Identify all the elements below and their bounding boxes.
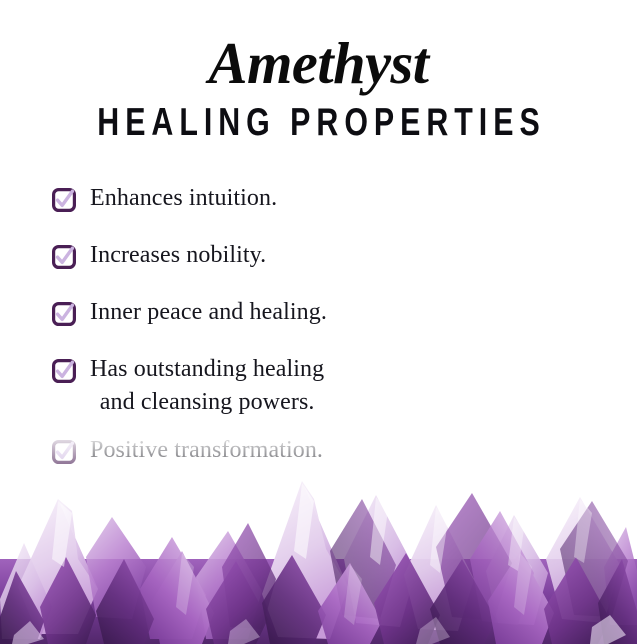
poster-header: Amethyst HEALING PROPERTIES: [0, 0, 637, 135]
amethyst-poster: Amethyst HEALING PROPERTIES Enhances int…: [0, 0, 637, 644]
list-item-label: Has outstanding healing and cleansing po…: [90, 353, 324, 419]
list-item[interactable]: Enhances intuition.: [52, 182, 637, 215]
list-item-label: Increases nobility.: [90, 239, 266, 272]
checkbox-checked-icon[interactable]: [52, 359, 76, 383]
list-item[interactable]: Increases nobility.: [52, 239, 637, 272]
checkbox-checked-icon[interactable]: [52, 188, 76, 212]
list-item[interactable]: Inner peace and healing.: [52, 296, 637, 329]
checkbox-checked-icon[interactable]: [52, 302, 76, 326]
list-item-label: Inner peace and healing.: [90, 296, 327, 329]
page-subtitle: HEALING PROPERTIES: [25, 102, 611, 141]
list-item-label: Enhances intuition.: [90, 182, 277, 215]
checkbox-checked-icon[interactable]: [52, 245, 76, 269]
list-item[interactable]: Has outstanding healing and cleansing po…: [52, 353, 637, 419]
page-title: Amethyst: [3, 34, 634, 93]
amethyst-crystal-cluster-image: [0, 439, 637, 644]
